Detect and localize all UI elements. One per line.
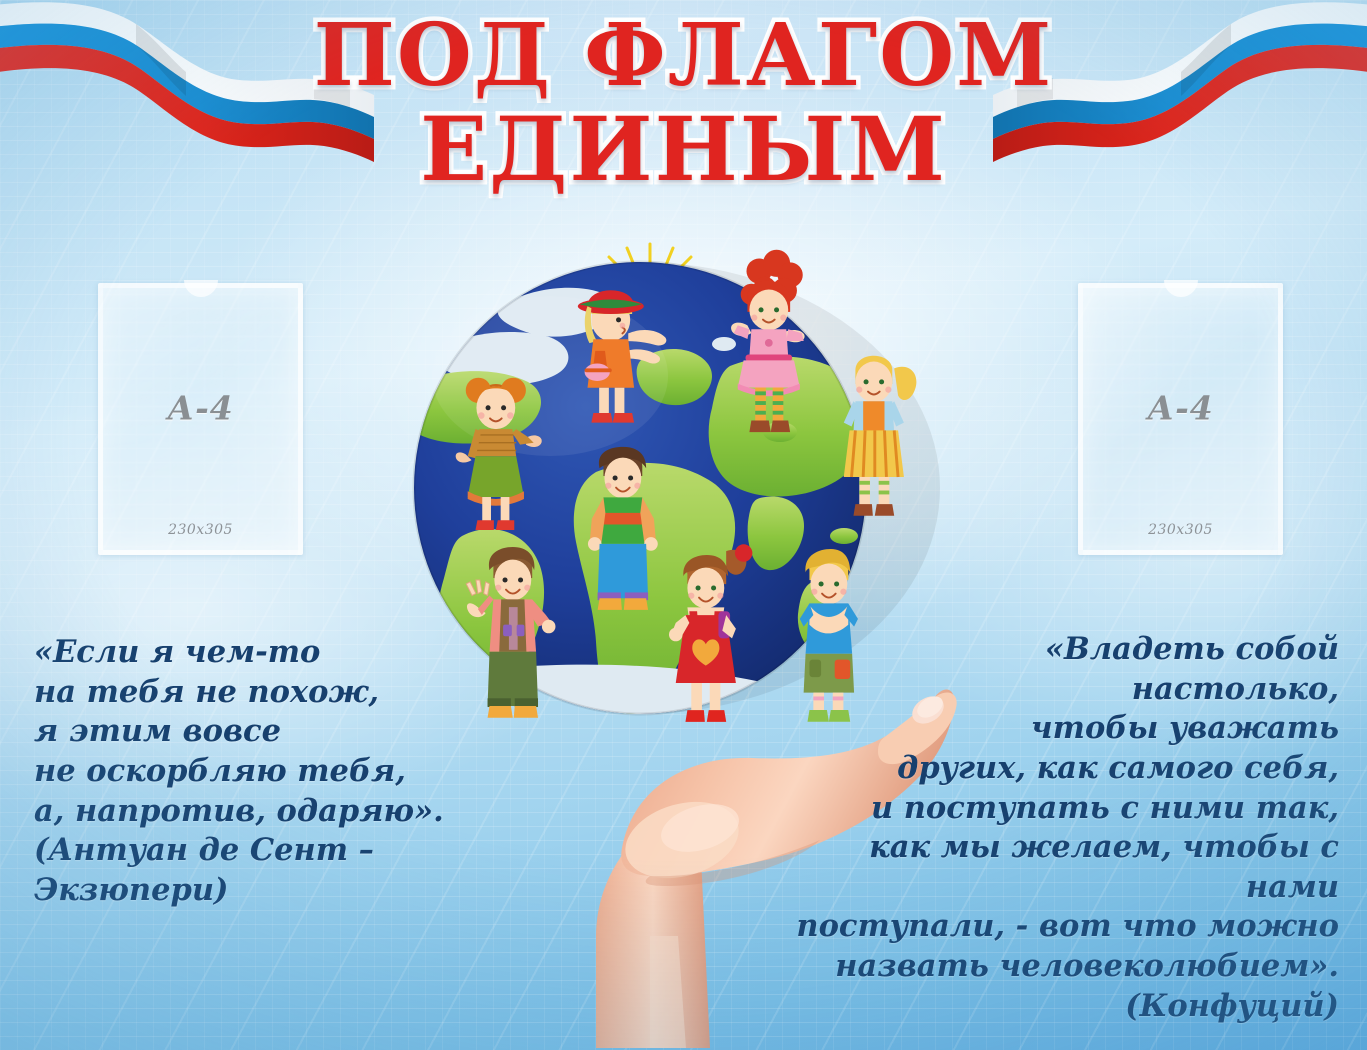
poster-title: ПОД ФЛАГОМ ЕДИНЫМ — [0, 14, 1367, 193]
title-line-1: ПОД ФЛАГОМ — [0, 14, 1367, 98]
child-girl-red-hat — [578, 290, 667, 422]
a4-pocket-right[interactable]: А-4 230x305 — [1078, 283, 1283, 555]
a4-pocket-left[interactable]: А-4 230x305 — [98, 283, 303, 555]
quote-left: «Если я чем-то на тебя не похож, я этим … — [34, 633, 464, 910]
child-girl-red-dress-heart — [669, 544, 752, 722]
child-boy-pink-shirt — [466, 547, 555, 718]
child-boy-green-shirt — [588, 447, 658, 610]
pocket-size-label: А-4 — [1078, 389, 1283, 428]
child-girl-red-curly-pink — [731, 250, 805, 432]
poster-canvas: ПОД ФЛАГОМ ЕДИНЫМ А-4 230x305 А-4 230x30… — [0, 0, 1367, 1050]
title-line-2: ЕДИНЫМ — [0, 106, 1367, 192]
child-girl-blonde-ponytail — [844, 356, 917, 516]
pocket-dimensions-label: 230x305 — [1078, 522, 1283, 538]
child-girl-orange-buns — [456, 378, 542, 530]
russian-flag-ribbon-right — [993, 0, 1367, 185]
quote-right: «Владеть собой настолько, чтобы уважать … — [779, 630, 1339, 1026]
pocket-size-label: А-4 — [98, 389, 303, 428]
sun-icon — [592, 244, 708, 352]
pocket-dimensions-label: 230x305 — [98, 522, 303, 538]
russian-flag-ribbon-left — [0, 0, 374, 185]
